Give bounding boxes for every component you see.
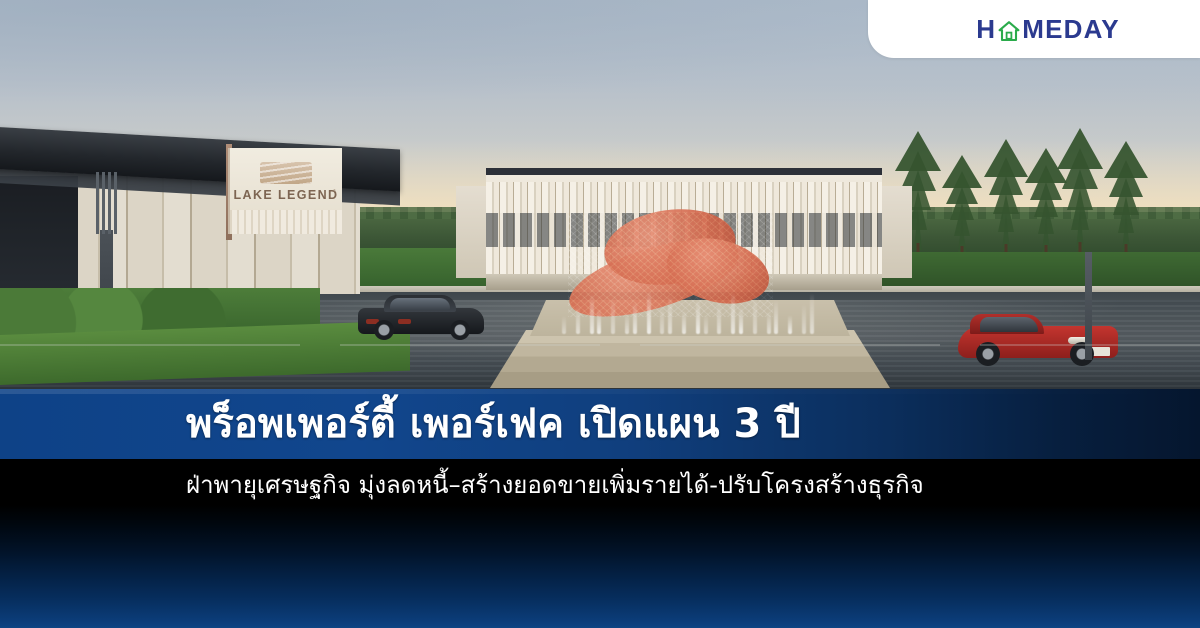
car-glass: [980, 317, 1038, 332]
house-icon: [997, 19, 1021, 43]
water-jet: [731, 292, 735, 334]
water-jet: [668, 295, 672, 334]
project-sign-trademark: ®: [333, 188, 336, 193]
water-jet: [810, 293, 814, 334]
water-jet: [625, 313, 629, 334]
footer-gradient: [0, 505, 1200, 628]
water-jet: [590, 294, 594, 334]
homeday-logo-card[interactable]: H MEDAY: [868, 0, 1200, 58]
headline-band: พร็อพเพอร์ตี้ เพอร์เฟค เปิดแผน 3 ปี: [0, 389, 1200, 459]
hero-photo: LAKE LEGEND ®: [0, 0, 1200, 392]
subtitle-band: ฝ่าพายุเศรษฐกิจ มุ่งลดหนี้–สร้างยอดขายเพ…: [0, 459, 1200, 511]
project-sign: LAKE LEGEND ®: [230, 148, 342, 234]
water-jet: [647, 291, 651, 334]
water-jet: [633, 302, 637, 334]
water-jet: [788, 315, 792, 334]
road-marking: [640, 344, 940, 346]
car-wheel: [450, 320, 470, 340]
red-sports-car: [958, 302, 1118, 368]
water-jet: [753, 296, 757, 334]
water-jet: [704, 314, 708, 334]
homeday-logo: H MEDAY: [976, 14, 1120, 45]
water-jet: [562, 316, 566, 334]
subtitle-text: ฝ่าพายุเศรษฐกิจ มุ่งลดหนี้–สร้างยอดขายเพ…: [186, 473, 924, 497]
logo-text-before: H: [976, 14, 996, 45]
water-jet: [767, 311, 771, 334]
car-taillight: [398, 319, 411, 324]
stone-plaza-steps: [490, 330, 890, 388]
water-jet: [802, 304, 806, 334]
water-jet: [696, 299, 700, 334]
water-jet: [717, 303, 721, 334]
water-jet: [576, 305, 580, 334]
headline-text: พร็อพเพอร์ตี้ เพอร์เฟค เปิดแผน 3 ปี: [186, 404, 801, 444]
sign-slats: [230, 210, 342, 234]
road-marking: [980, 344, 1200, 346]
logo-text-after: MEDAY: [1022, 14, 1120, 45]
road-marking: [340, 344, 600, 346]
water-jet: [682, 310, 686, 334]
water-jet: [597, 309, 601, 334]
water-jet: [660, 306, 664, 334]
banner-canvas: LAKE LEGEND ® H: [0, 0, 1200, 628]
water-jet: [611, 298, 615, 334]
car-wheel: [374, 320, 394, 340]
water-jet: [739, 307, 743, 334]
project-sign-text: LAKE LEGEND: [230, 188, 342, 202]
water-jet: [774, 300, 778, 334]
car-glass: [390, 298, 450, 310]
road-marking: [0, 344, 300, 346]
lake-legend-logo-icon: [260, 162, 312, 184]
water-jet-fountain: [556, 272, 826, 334]
black-luxury-sedan: [358, 292, 484, 342]
